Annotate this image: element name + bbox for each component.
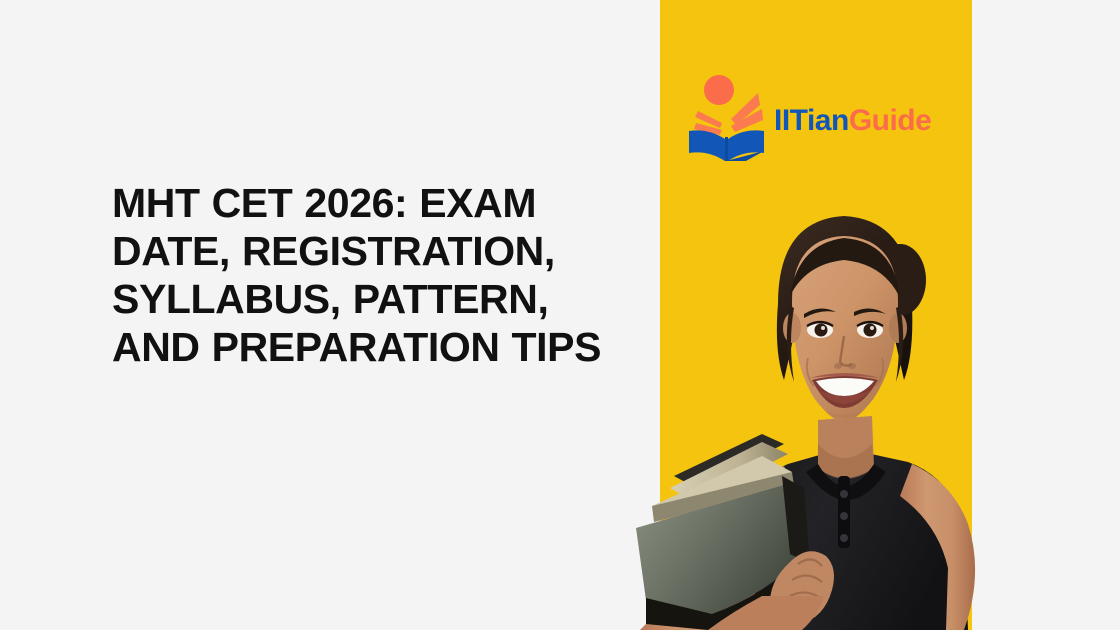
logo-wordmark: IITianGuide (774, 106, 931, 136)
headline-area: MHT CET 2026: Exam Date, Registration, S… (112, 180, 632, 372)
student-photo: Smiling female student with hair tied ba… (612, 176, 1016, 630)
right-nostril (848, 363, 856, 369)
left-nostril (834, 363, 842, 369)
right-iris (864, 324, 877, 337)
sun-shape (704, 75, 734, 105)
shirt-button (840, 534, 848, 542)
left-iris (815, 324, 828, 337)
left-eye-glint (821, 326, 825, 330)
page-title: MHT CET 2026: Exam Date, Registration, S… (112, 180, 632, 372)
logo-word-primary: IITian (774, 104, 849, 137)
shirt-button (840, 490, 848, 498)
site-logo[interactable]: IITianGuide (686, 72, 944, 162)
logo-word-secondary: Guide (849, 104, 932, 137)
right-eye-glint (870, 326, 874, 330)
open-book-with-rising-sun-icon (686, 73, 768, 161)
shirt-button (840, 512, 848, 520)
blog-banner: MHT CET 2026: Exam Date, Registration, S… (0, 0, 1120, 630)
book-left-page (689, 130, 725, 161)
book-gutter (725, 137, 728, 161)
